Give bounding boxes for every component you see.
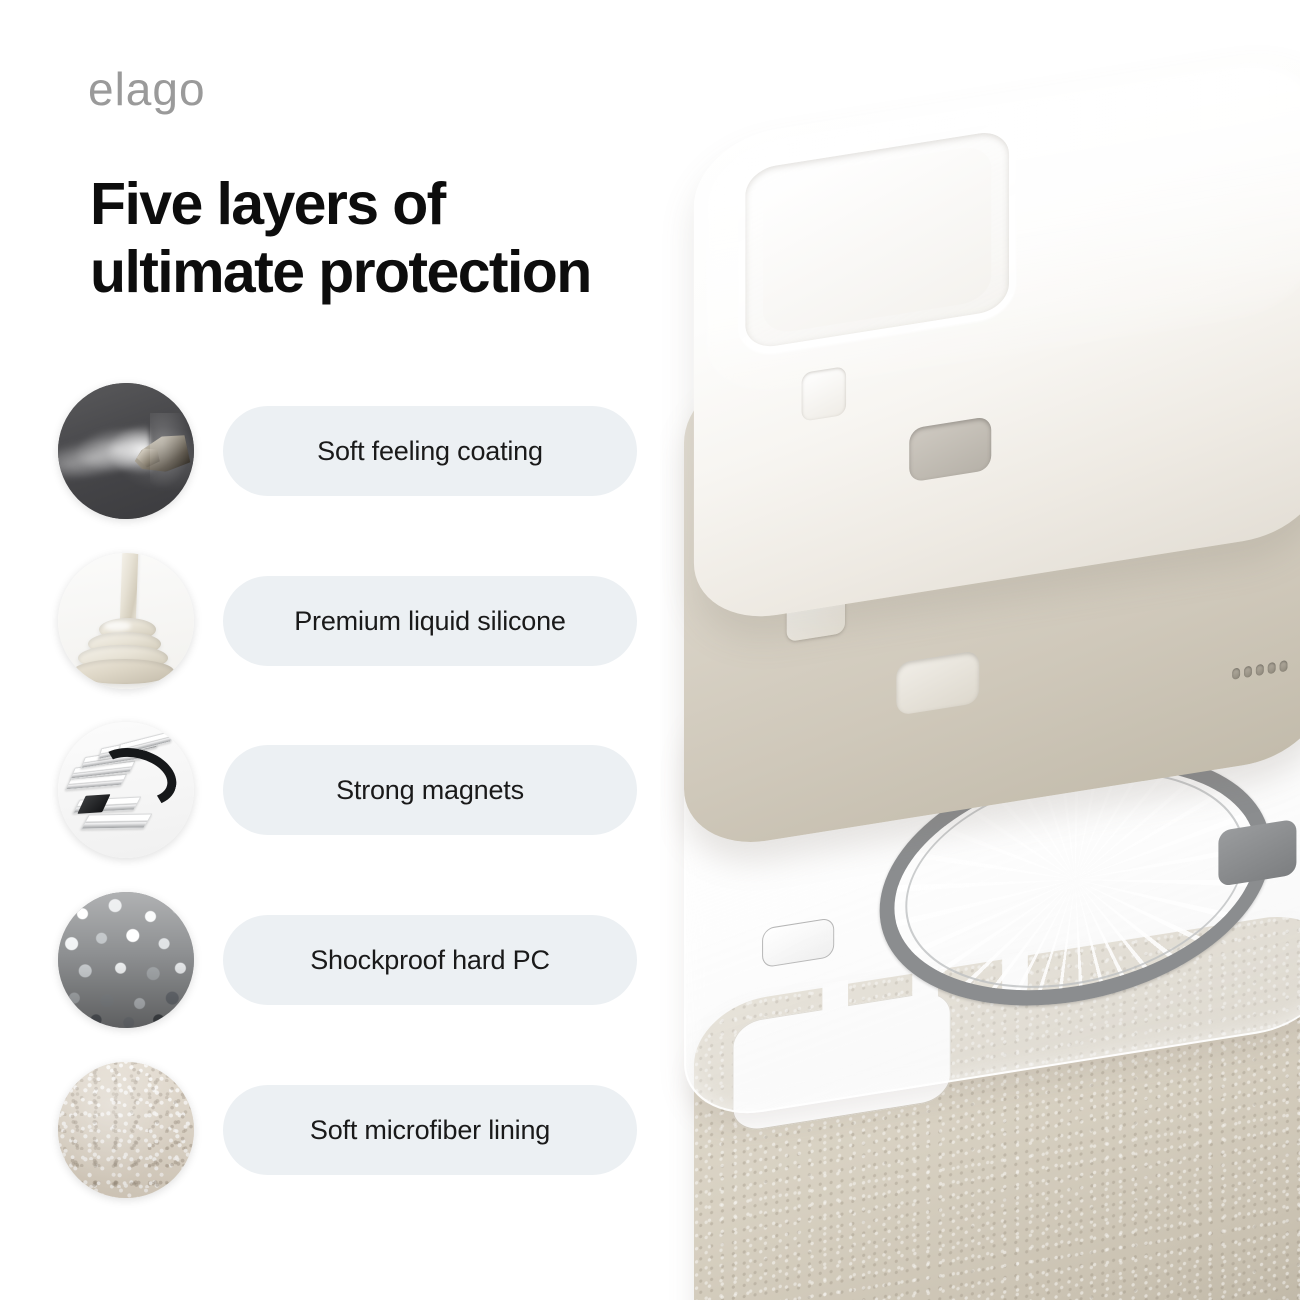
feature-row: Premium liquid silicone [58, 553, 658, 689]
feature-pill: Soft microfiber lining [223, 1085, 637, 1175]
soft-coating-layer [694, 42, 1300, 628]
feature-row: Shockproof hard PC [58, 892, 658, 1028]
feature-row: Strong magnets [58, 722, 658, 858]
magnet-bars-art [58, 722, 194, 858]
liquid-silicone-art [58, 553, 194, 689]
feature-label: Strong magnets [336, 775, 524, 806]
spray-coating-icon [58, 383, 194, 519]
feature-pill: Premium liquid silicone [223, 576, 637, 666]
magnet-bars-icon [58, 722, 194, 858]
pc-pellets-icon [58, 892, 194, 1028]
microfiber-texture-art [58, 1062, 194, 1198]
feature-pill: Soft feeling coating [223, 406, 637, 496]
liquid-silicone-icon [58, 553, 194, 689]
feature-row: Soft feeling coating [58, 383, 658, 519]
pc-pellets-art [58, 892, 194, 1028]
feature-label: Soft feeling coating [317, 436, 543, 467]
feature-pill: Strong magnets [223, 745, 637, 835]
microfiber-texture-icon [58, 1062, 194, 1198]
feature-list: Soft feeling coating Premium liquid sili… [0, 0, 700, 1300]
feature-label: Shockproof hard PC [310, 945, 550, 976]
feature-label: Soft microfiber lining [310, 1115, 550, 1146]
product-exploded-view [660, 0, 1300, 1300]
feature-pill: Shockproof hard PC [223, 915, 637, 1005]
spray-coating-art [58, 383, 194, 519]
feature-label: Premium liquid silicone [294, 606, 566, 637]
feature-row: Soft microfiber lining [58, 1062, 658, 1198]
